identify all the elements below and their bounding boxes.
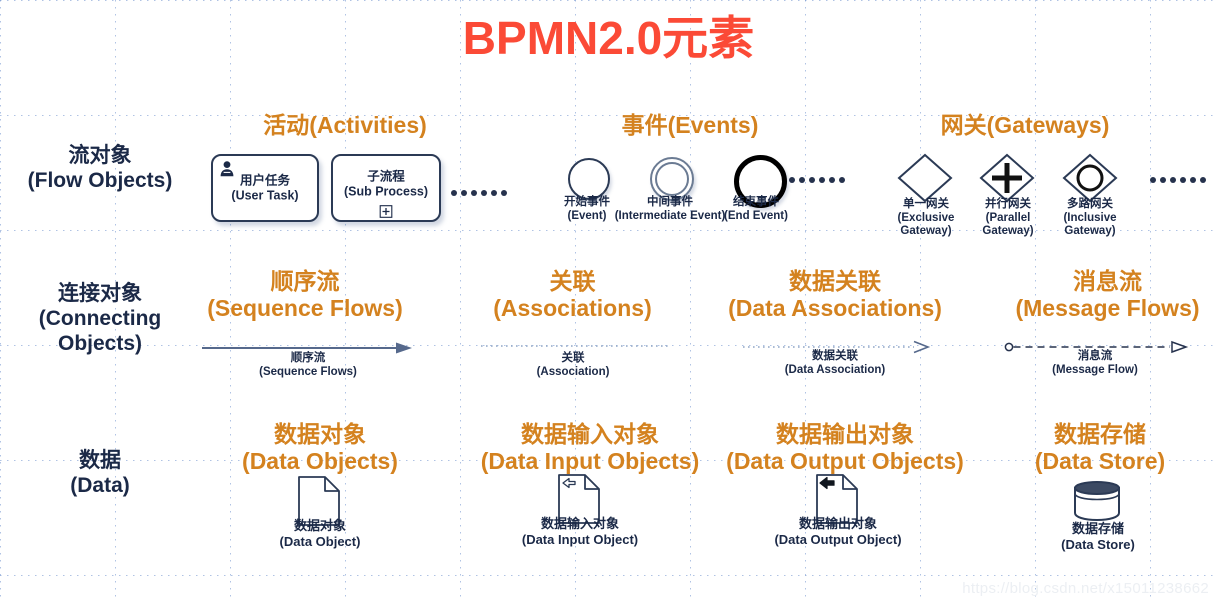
- category-heading-activities: 活动(Activities): [205, 112, 485, 139]
- shape-inclusive-gateway[interactable]: [1060, 152, 1120, 204]
- category-heading-events: 事件(Events): [540, 112, 840, 139]
- caption-data-input-object: 数据输入对象 (Data Input Object): [510, 516, 650, 547]
- row-label-en: (Flow Objects): [0, 168, 200, 193]
- category-heading-message-flows: 消息流 (Message Flows): [985, 268, 1217, 322]
- events-ellipsis: [789, 177, 845, 183]
- row-label-data: 数据 (Data): [0, 448, 200, 498]
- row-label-cn: 连接对象: [0, 281, 200, 306]
- category-heading-data-input-objects: 数据输入对象 (Data Input Objects): [465, 421, 715, 475]
- page-title: BPMN2.0元素: [0, 8, 1217, 68]
- shape-parallel-gateway[interactable]: [977, 152, 1037, 204]
- shape-user-task-label: 用户任务 (User Task): [213, 174, 317, 204]
- category-heading-associations: 关联 (Associations): [455, 268, 690, 322]
- caption-message-flow: 消息流 (Message Flow): [1030, 350, 1160, 377]
- caption-inclusive-gateway: 多路网关 (Inclusive Gateway): [1046, 198, 1134, 239]
- category-heading-sequence-flows: 顺序流 (Sequence Flows): [190, 268, 420, 322]
- caption-association: 关联 (Association): [508, 352, 638, 379]
- category-heading-data-store: 数据存储 (Data Store): [1000, 421, 1200, 475]
- caption-data-association: 数据关联 (Data Association): [770, 350, 900, 377]
- shape-sub-process[interactable]: 子流程 (Sub Process): [331, 154, 441, 222]
- shape-user-task[interactable]: 用户任务 (User Task): [211, 154, 319, 222]
- watermark: https://blog.csdn.net/x15011238662: [962, 580, 1209, 597]
- activities-ellipsis: [451, 190, 507, 196]
- row-label-flow-objects: 流对象 (Flow Objects): [0, 143, 200, 193]
- caption-end-event: 结束事件 (End Event): [708, 196, 804, 223]
- category-heading-gateways: 网关(Gateways): [880, 112, 1170, 139]
- row-label-cn: 数据: [0, 448, 200, 473]
- row-label-en: (Data): [0, 473, 200, 498]
- caption-parallel-gateway: 并行网关 (Parallel Gateway): [964, 198, 1052, 239]
- category-heading-data-objects: 数据对象 (Data Objects): [215, 421, 425, 475]
- caption-exclusive-gateway: 单一网关 (Exclusive Gateway): [882, 198, 970, 239]
- category-heading-data-output-objects: 数据输出对象 (Data Output Objects): [715, 421, 975, 475]
- shape-exclusive-gateway[interactable]: [895, 152, 955, 204]
- shape-intermediate-event[interactable]: [650, 157, 694, 201]
- shape-sub-process-label: 子流程 (Sub Process): [333, 169, 439, 199]
- caption-sequence-flow: 顺序流 (Sequence Flows): [243, 352, 373, 379]
- category-heading-data-associations: 数据关联 (Data Associations): [700, 268, 970, 322]
- data-store-cylinder-icon[interactable]: [1072, 480, 1122, 522]
- sub-process-plus-icon: [380, 205, 393, 218]
- row-label-cn: 流对象: [0, 143, 200, 168]
- row-label-en: (Connecting Objects): [0, 306, 200, 356]
- caption-data-store: 数据存储 (Data Store): [1028, 521, 1168, 552]
- row-label-connecting-objects: 连接对象 (Connecting Objects): [0, 281, 200, 356]
- gateways-ellipsis: [1150, 177, 1206, 183]
- shape-start-event[interactable]: [568, 158, 610, 200]
- association-dotted-line-icon[interactable]: [480, 341, 670, 351]
- caption-data-output-object: 数据输出对象 (Data Output Object): [768, 516, 908, 547]
- caption-data-object: 数据对象 (Data Object): [250, 518, 390, 549]
